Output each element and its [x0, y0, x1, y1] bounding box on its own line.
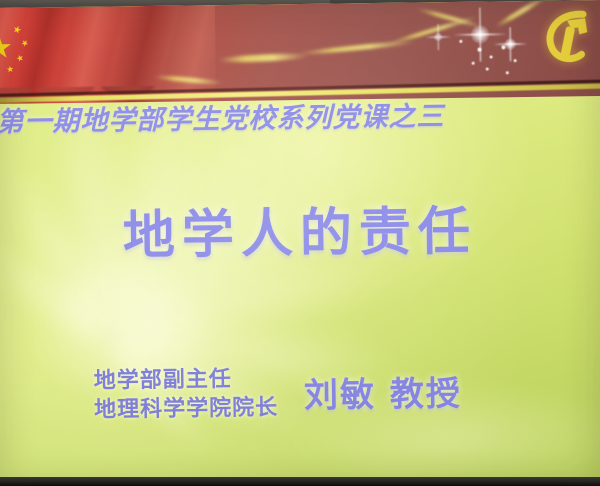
- sparkle-icon: [493, 27, 527, 61]
- series-header-text: 第一期地学部学生党校系列党课之三: [0, 103, 445, 136]
- sparkle-dot: [501, 45, 505, 49]
- presenter-byline: 地学部副主任 地理科学学院院长 刘敏 教授: [94, 362, 463, 425]
- gold-ribbon-streak: [217, 52, 309, 63]
- projector-screen-photo: 第一期地学部学生党校系列党课之三 地学人的责任 地学部副主任 地理科学学院院长 …: [0, 0, 600, 486]
- presenter-role-line: 地理科学学院院长: [94, 393, 278, 424]
- gold-ribbon-streak: [387, 14, 480, 45]
- slide-main-title: 地学人的责任: [0, 204, 600, 264]
- sparkle-dot: [514, 59, 517, 62]
- hammer-and-sickle-emblem: [537, 4, 598, 69]
- presenter-name: 刘敏 教授: [304, 377, 462, 413]
- presenter-role-line: 地学部副主任: [94, 364, 278, 395]
- sparkle-dot: [459, 40, 462, 43]
- sparkle-icon: [453, 7, 508, 62]
- wall-strip-bottom: [0, 477, 600, 486]
- sparkle-dot: [477, 48, 481, 52]
- sparkle-dot: [490, 55, 493, 58]
- sparkle-dot: [506, 71, 509, 74]
- presenter-roles: 地学部副主任 地理科学学院院长: [94, 364, 279, 424]
- slide-canvas: 第一期地学部学生党校系列党课之三 地学人的责任 地学部副主任 地理科学学院院长 …: [0, 0, 600, 486]
- sparkle-dot: [486, 68, 489, 71]
- sparkle-dot: [472, 62, 475, 65]
